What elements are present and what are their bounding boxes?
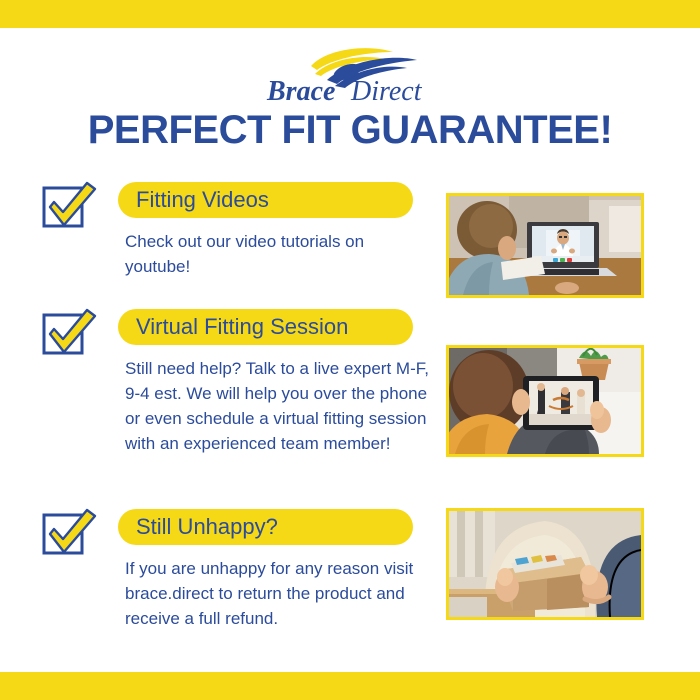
bottom-yellow-band xyxy=(0,672,700,700)
section-title: Virtual Fitting Session xyxy=(136,314,348,340)
logo-word-brace: Brace xyxy=(266,76,335,104)
section-title-pill-fitting-videos: Fitting Videos xyxy=(118,182,413,218)
photo-telehealth-laptop-call xyxy=(446,193,644,298)
checkbox-checked-icon xyxy=(40,307,100,363)
section-title-pill-virtual-fitting-session: Virtual Fitting Session xyxy=(118,309,413,345)
section-title: Fitting Videos xyxy=(136,187,269,213)
logo-word-direct: Direct xyxy=(350,76,423,104)
top-yellow-band xyxy=(0,0,700,28)
page-title: PERFECT FIT GUARANTEE! xyxy=(0,108,700,153)
checkbox-checked-icon xyxy=(40,507,100,563)
checkbox-checked-icon xyxy=(40,180,100,236)
photo-package-return-handoff xyxy=(446,508,644,620)
section-title-pill-still-unhappy: Still Unhappy? xyxy=(118,509,413,545)
section-body: Still need help? Talk to a live expert M… xyxy=(125,357,430,457)
photo-tablet-video-session xyxy=(446,345,644,457)
section-body: If you are unhappy for any reason visit … xyxy=(125,557,430,632)
brace-direct-logo: Brace Direct xyxy=(265,42,455,104)
section-body: Check out our video tutorials on youtube… xyxy=(125,230,430,280)
perfect-fit-guarantee-graphic: Brace Direct PERFECT FIT GUARANTEE! Fitt… xyxy=(0,0,700,700)
section-title: Still Unhappy? xyxy=(136,514,278,540)
